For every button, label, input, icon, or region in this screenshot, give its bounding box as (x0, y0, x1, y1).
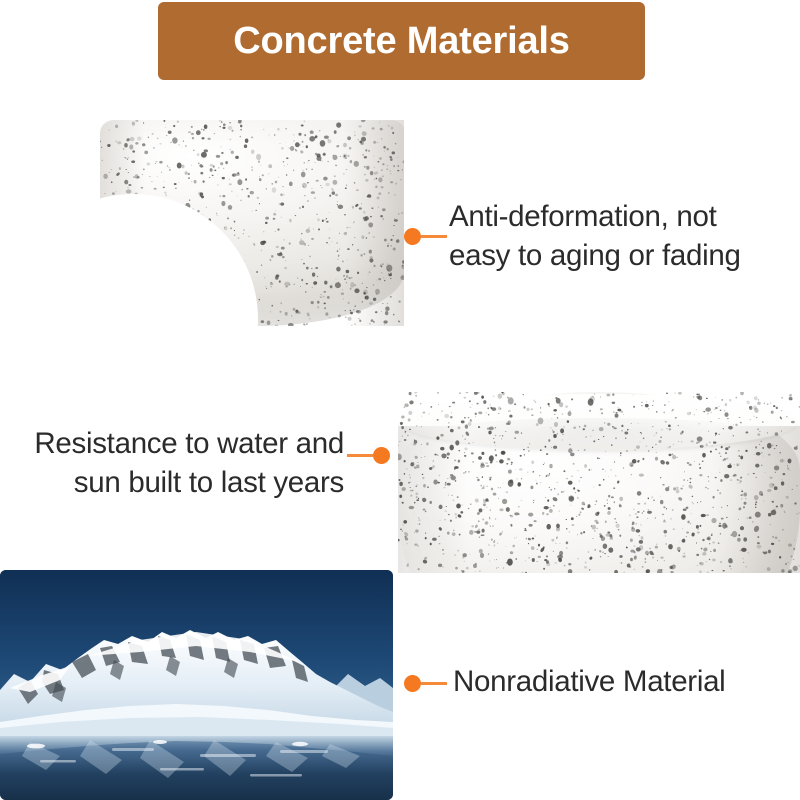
image-concrete-planter-tapered (100, 120, 404, 326)
feature-label-nonradiative: Nonradiative Material (453, 663, 725, 702)
bowl-left-shading (398, 426, 468, 573)
image-concrete-bowl (398, 392, 800, 573)
leader-line (347, 454, 373, 457)
product-feature-page: Concrete Materials Anti-deformation, not… (0, 0, 800, 800)
header-banner: Concrete Materials (158, 2, 645, 80)
planter-right-shading (344, 120, 404, 326)
bullet-dot-icon (404, 228, 421, 245)
connector-water-sun-resistance (347, 446, 390, 464)
leader-line (421, 682, 447, 685)
connector-nonradiative (404, 674, 447, 692)
mountain-scene (0, 570, 393, 800)
bowl-right-shading (714, 426, 800, 573)
feature-label-anti-deformation: Anti-deformation, not easy to aging or f… (449, 198, 741, 276)
feature-label-water-sun-resistance: Resistance to water and sun built to las… (34, 425, 344, 503)
image-snowy-mountain-reflection (0, 570, 393, 800)
leader-line (421, 235, 447, 238)
page-title: Concrete Materials (233, 22, 569, 60)
bullet-dot-icon (373, 447, 390, 464)
bullet-dot-icon (404, 675, 421, 692)
connector-anti-deformation (404, 227, 447, 245)
